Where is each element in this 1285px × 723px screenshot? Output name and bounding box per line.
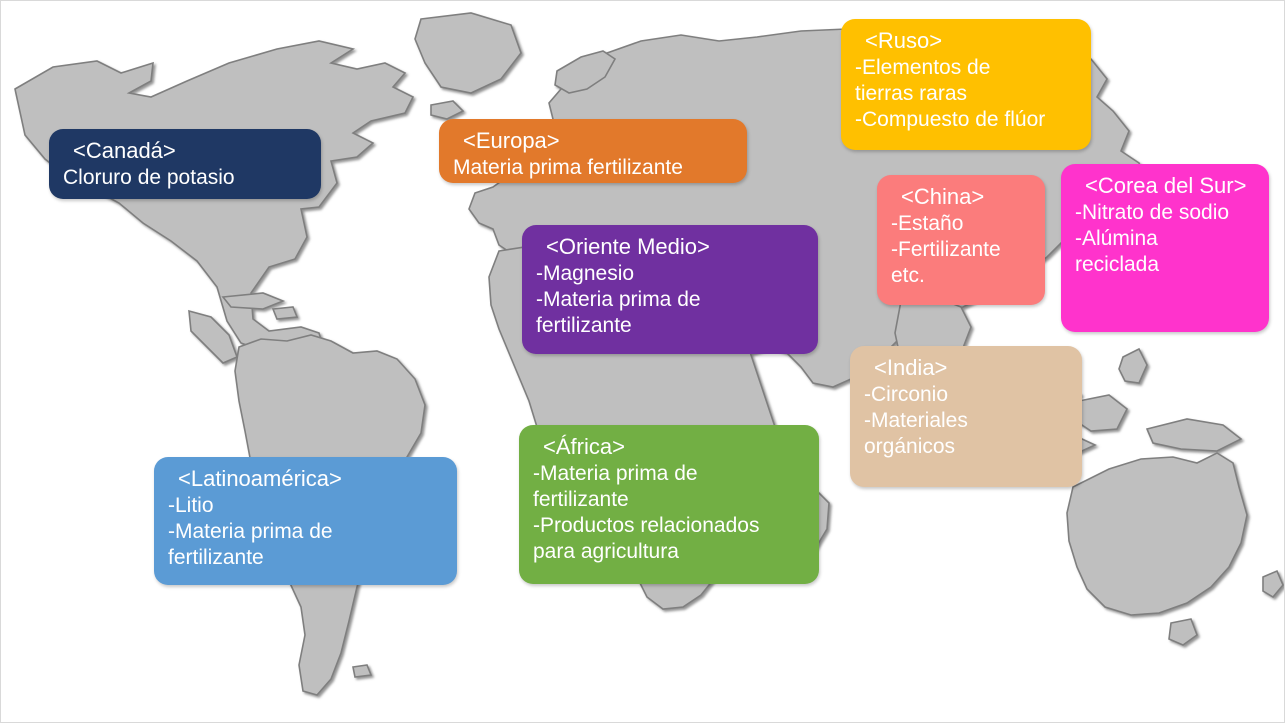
callout-africa-item-3: para agricultura [533, 539, 805, 565]
callout-ruso-item-2: -Compuesto de flúor [855, 107, 1077, 133]
callout-china-title: <China> [891, 183, 1031, 211]
callout-europa-title: <Europa> [453, 127, 733, 155]
infographic-canvas: <Canadá> Cloruro de potasio <Europa> Mat… [0, 0, 1285, 723]
landmass-falklands [353, 665, 371, 677]
callout-ruso[interactable]: <Ruso> -Elementos de tierras raras -Comp… [841, 19, 1091, 150]
callout-latinoamerica[interactable]: <Latinoamérica> -Litio -Materia prima de… [154, 457, 457, 585]
callout-china-item-1: -Fertilizante [891, 237, 1031, 263]
callout-china-item-0: -Estaño [891, 211, 1031, 237]
callout-ruso-item-0: -Elementos de [855, 55, 1077, 81]
callout-corea-title: <Corea del Sur> [1075, 172, 1255, 200]
callout-corea-item-0: -Nitrato de sodio [1075, 200, 1255, 226]
callout-oriente-item-1: -Materia prima de [536, 287, 804, 313]
callout-latinoamerica-item-1: -Materia prima de [168, 519, 443, 545]
landmass-australia [1067, 453, 1247, 615]
callout-canada[interactable]: <Canadá> Cloruro de potasio [49, 129, 321, 199]
landmass-caribbean [223, 293, 283, 309]
callout-europa-item-0: Materia prima fertilizante [453, 155, 733, 181]
callout-europa[interactable]: <Europa> Materia prima fertilizante [439, 119, 747, 183]
callout-africa-item-1: fertilizante [533, 487, 805, 513]
callout-corea-del-sur[interactable]: <Corea del Sur> -Nitrato de sodio -Alúmi… [1061, 164, 1269, 332]
callout-africa[interactable]: <África> -Materia prima de fertilizante … [519, 425, 819, 584]
callout-latinoamerica-title: <Latinoamérica> [168, 465, 443, 493]
landmass-new-zealand [1263, 571, 1283, 597]
callout-corea-item-1: -Alúmina [1075, 226, 1255, 252]
callout-ruso-item-1: tierras raras [855, 81, 1077, 107]
callout-latinoamerica-item-2: fertilizante [168, 545, 443, 571]
callout-china-item-2: etc. [891, 263, 1031, 289]
landmass-philippines [1119, 349, 1147, 383]
landmass-tasmania [1169, 619, 1197, 645]
world-map-graphic [1, 1, 1285, 723]
callout-oriente-item-0: -Magnesio [536, 261, 804, 287]
callout-india-title: <India> [864, 354, 1068, 382]
callout-china[interactable]: <China> -Estaño -Fertilizante etc. [877, 175, 1045, 305]
landmass-greenland [415, 13, 521, 93]
landmass-new-guinea [1147, 419, 1241, 451]
callout-africa-item-2: -Productos relacionados [533, 513, 805, 539]
callout-oriente-title: <Oriente Medio> [536, 233, 804, 261]
callout-canada-title: <Canadá> [63, 137, 307, 165]
callout-india-item-1: -Materiales [864, 408, 1068, 434]
callout-india-item-0: -Circonio [864, 382, 1068, 408]
callout-oriente-item-2: fertilizante [536, 313, 804, 339]
callout-ruso-title: <Ruso> [855, 27, 1077, 55]
landmass-hispaniola [273, 307, 297, 319]
callout-canada-item-0: Cloruro de potasio [63, 165, 307, 191]
callout-oriente-medio[interactable]: <Oriente Medio> -Magnesio -Materia prima… [522, 225, 818, 354]
callout-africa-item-0: -Materia prima de [533, 461, 805, 487]
callout-latinoamerica-item-0: -Litio [168, 493, 443, 519]
callout-corea-item-2: reciclada [1075, 252, 1255, 278]
callout-india-item-2: orgánicos [864, 434, 1068, 460]
callout-india[interactable]: <India> -Circonio -Materiales orgánicos [850, 346, 1082, 487]
landmass-iceland [431, 101, 463, 119]
callout-africa-title: <África> [533, 433, 805, 461]
